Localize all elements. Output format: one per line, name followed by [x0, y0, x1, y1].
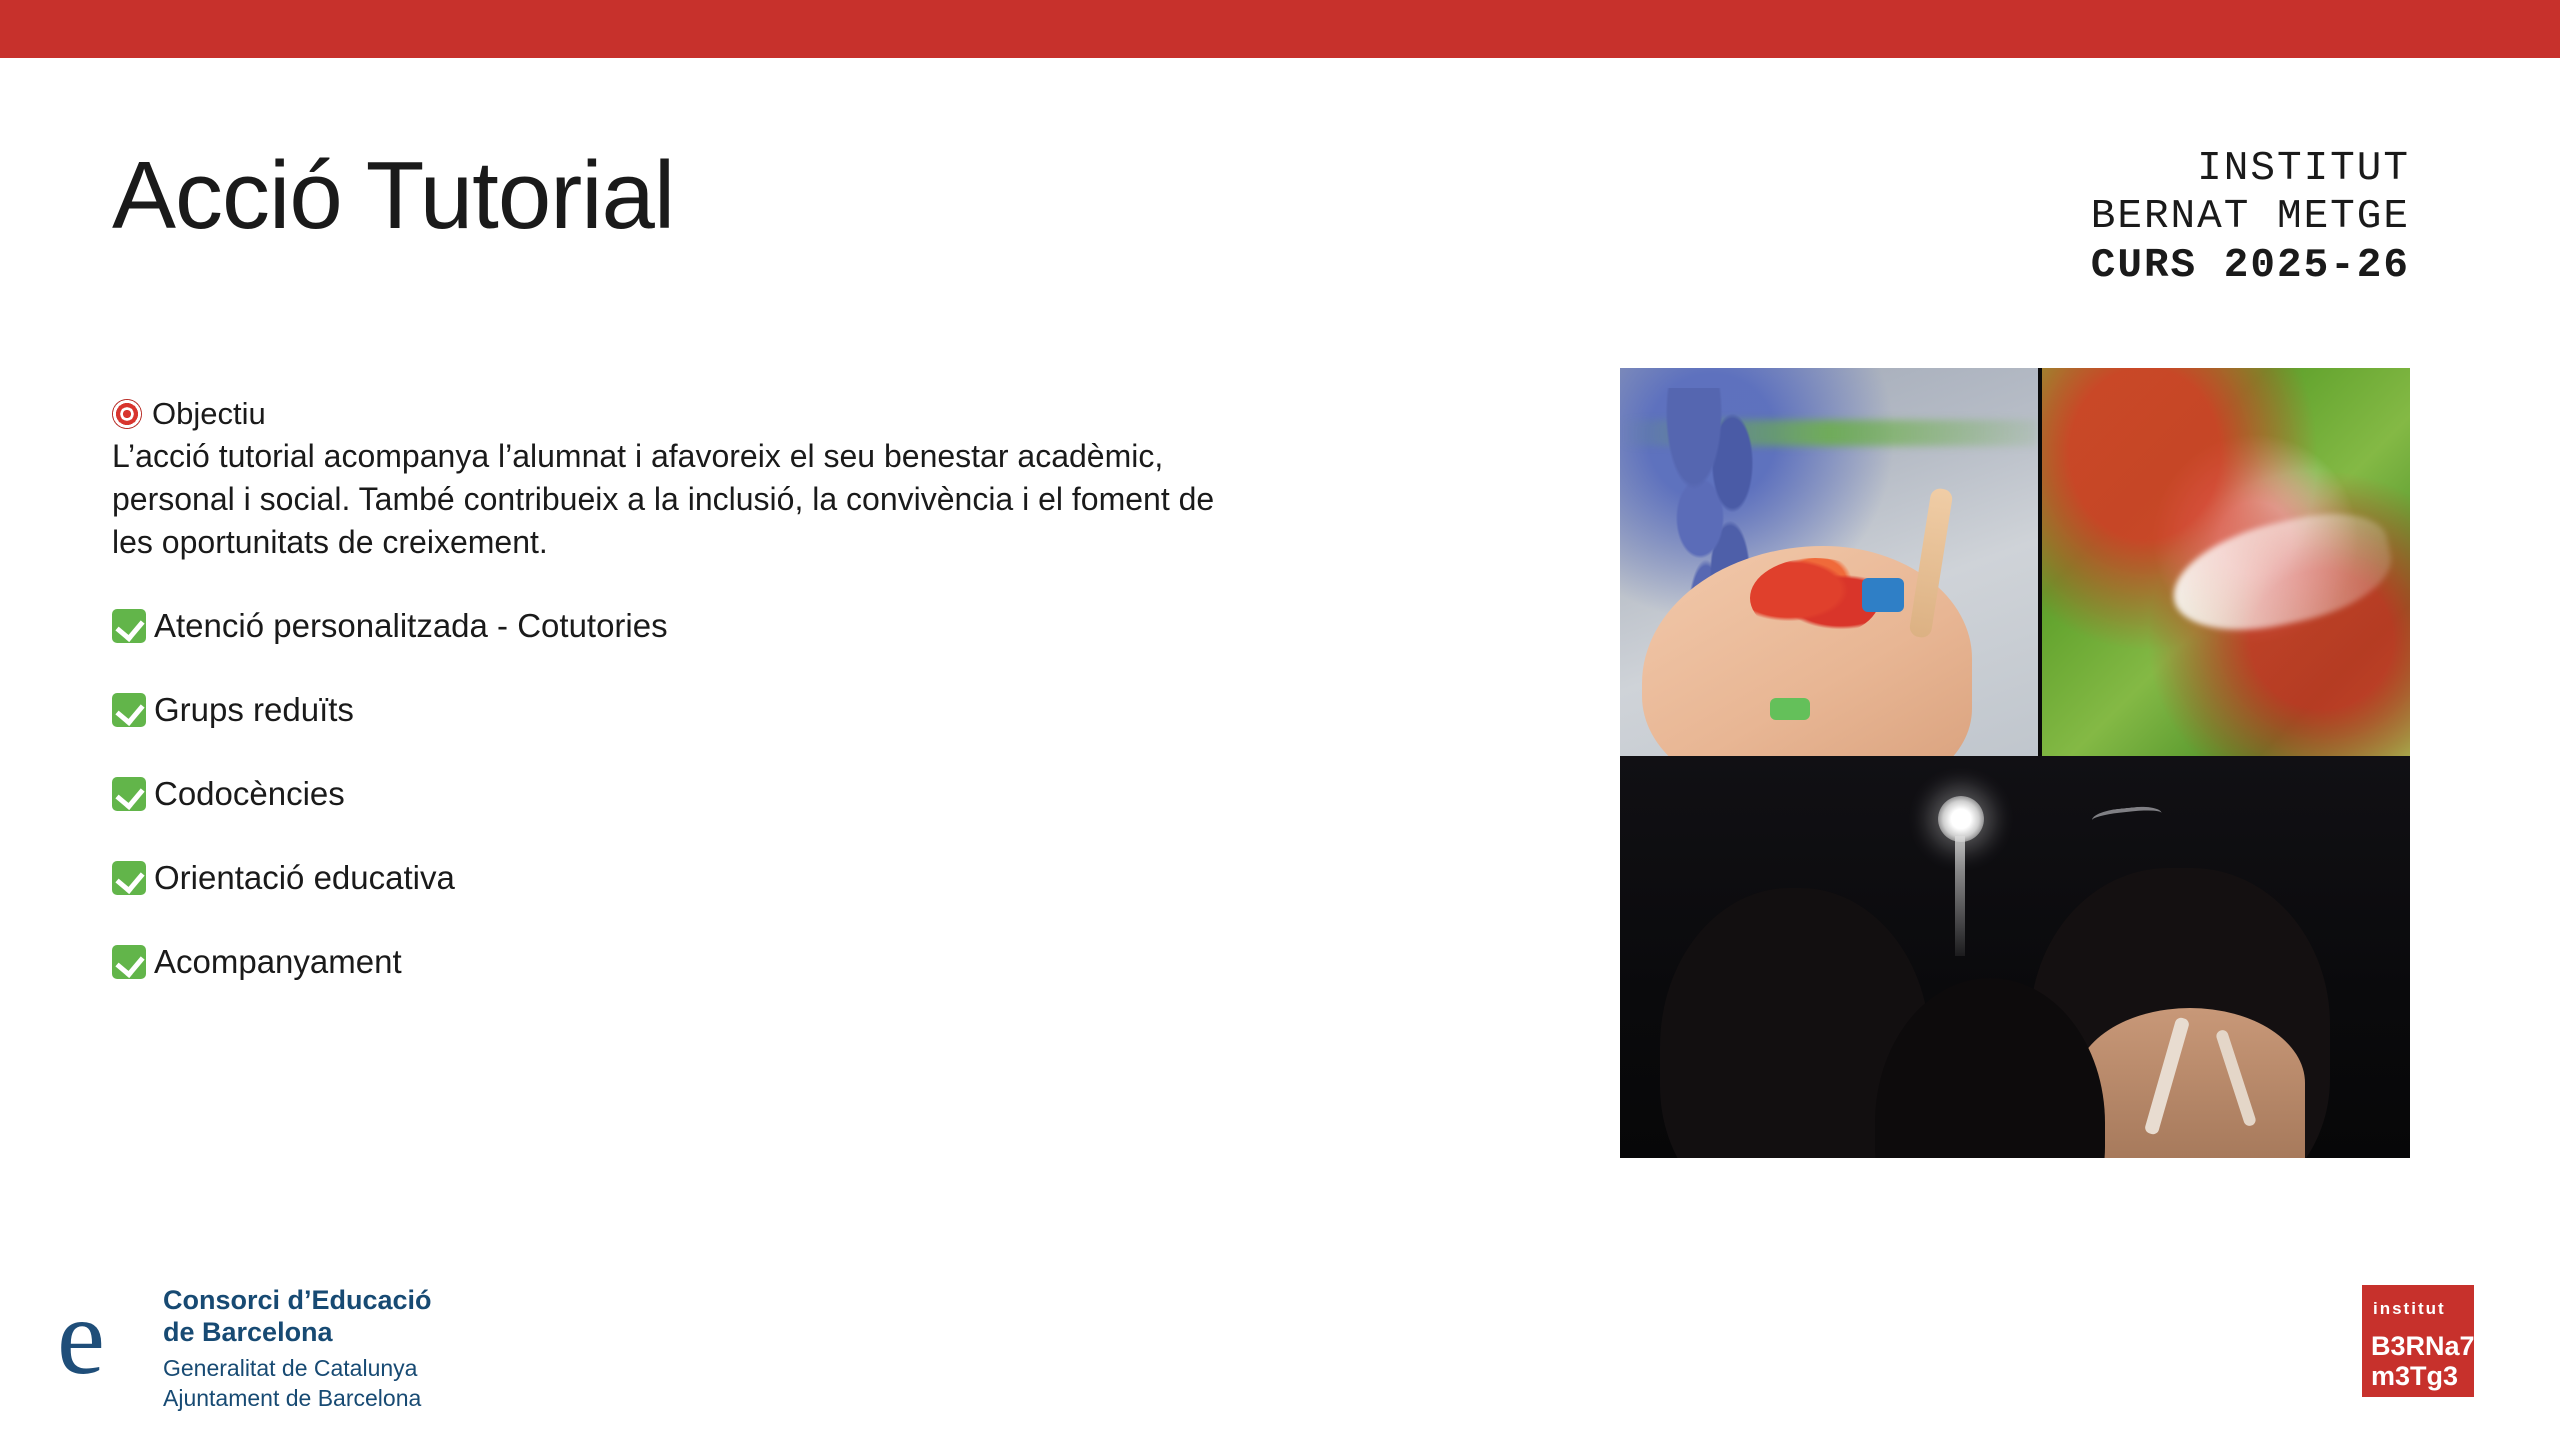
institute-name-line1: INSTITUT	[2091, 145, 2410, 193]
institute-course-year: CURS 2025-26	[2091, 242, 2410, 291]
check-icon	[112, 861, 146, 895]
institute-name-line2: BERNAT METGE	[2091, 193, 2410, 241]
photo-panel-top-right	[2042, 368, 2410, 756]
photo-panel-top-left	[1620, 368, 2038, 756]
institute-logo-line2: B3RNa7	[2371, 1331, 2475, 1362]
photo-blue-piece	[1862, 578, 1904, 612]
list-item: Orientació educativa	[112, 861, 1332, 895]
consorci-logo: e Consorci d’Educació de Barcelona Gener…	[55, 1285, 535, 1395]
check-icon	[112, 693, 146, 727]
institute-logo-line1: institut	[2373, 1299, 2446, 1319]
list-item: Codocències	[112, 777, 1332, 811]
target-icon	[112, 399, 142, 429]
consorci-line4: Ajuntament de Barcelona	[163, 1384, 432, 1414]
photo-red-clay	[1750, 558, 1880, 638]
top-accent-bar	[0, 0, 2560, 58]
list-item-label: Acompanyament	[154, 945, 402, 978]
main-content: Objectiu L’acció tutorial acompanya l’al…	[112, 398, 1332, 1029]
check-icon	[112, 777, 146, 811]
objective-heading-label: Objectiu	[152, 398, 266, 429]
photo-student-shoulder	[2075, 1008, 2305, 1158]
svg-text:e: e	[57, 1287, 105, 1387]
photo-collage	[1620, 368, 2410, 1158]
photo-white-swirl	[2163, 501, 2400, 646]
institute-logo-line3: m3Tg3	[2371, 1361, 2458, 1392]
photo-glasses	[2091, 804, 2163, 833]
consorci-line3: Generalitat de Catalunya	[163, 1354, 432, 1384]
list-item: Acompanyament	[112, 945, 1332, 979]
list-item-label: Atenció personalitzada - Cotutories	[154, 609, 668, 642]
page-title: Acció Tutorial	[112, 148, 674, 244]
consorci-e-mark: e	[55, 1287, 151, 1387]
list-item-label: Orientació educativa	[154, 861, 455, 894]
check-icon	[112, 945, 146, 979]
consorci-text: Consorci d’Educació de Barcelona General…	[163, 1285, 432, 1414]
photo-light-stem	[1955, 836, 1965, 956]
bullet-list: Atenció personalitzada - Cotutories Grup…	[112, 609, 1332, 979]
check-icon	[112, 609, 146, 643]
consorci-line1: Consorci d’Educació	[163, 1285, 432, 1317]
institute-header: INSTITUT BERNAT METGE CURS 2025-26	[2091, 145, 2410, 291]
consorci-line2: de Barcelona	[163, 1317, 432, 1349]
objective-paragraph: L’acció tutorial acompanya l’alumnat i a…	[112, 435, 1247, 565]
list-item: Grups reduïts	[112, 693, 1332, 727]
institute-logo: institut B3RNa7 m3Tg3	[2362, 1285, 2474, 1397]
photo-panel-bottom	[1620, 756, 2410, 1158]
list-item: Atenció personalitzada - Cotutories	[112, 609, 1332, 643]
photo-green-piece	[1770, 698, 1810, 720]
slide: Acció Tutorial INSTITUT BERNAT METGE CUR…	[0, 0, 2560, 1440]
list-item-label: Codocències	[154, 777, 345, 810]
objective-heading: Objectiu	[112, 398, 1332, 429]
list-item-label: Grups reduïts	[154, 693, 354, 726]
